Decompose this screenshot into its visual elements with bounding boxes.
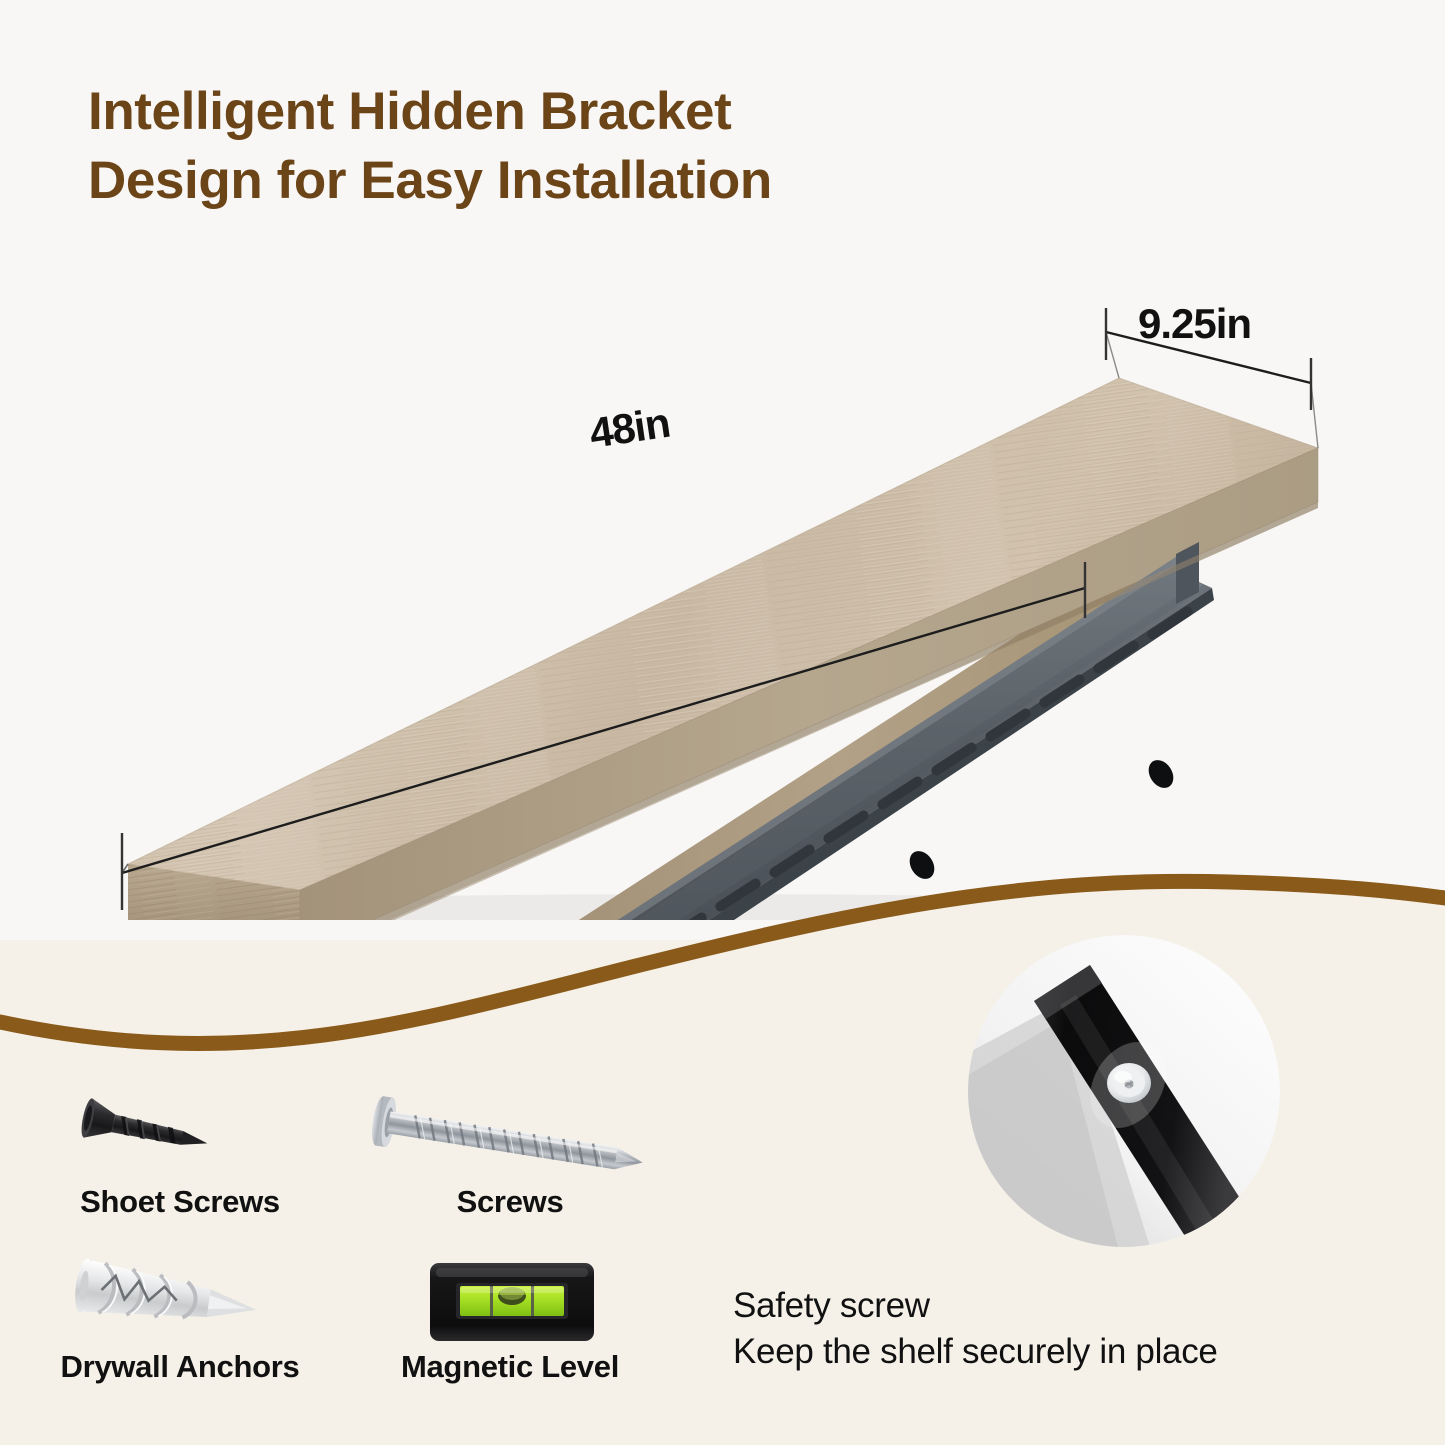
accessory-item-shoet-screws: Shoet Screws <box>10 1090 350 1250</box>
accessory-item-magnetic-level: Magnetic Level <box>340 1255 680 1415</box>
product-illustration: 48in 9.25in <box>0 270 1445 920</box>
dimension-label-depth: 9.25in <box>1138 300 1251 348</box>
accessory-list: Shoet Screws <box>0 1090 700 1430</box>
accessory-label: Drywall Anchors <box>10 1349 350 1385</box>
accessory-item-drywall-anchors: Drywall Anchors <box>10 1255 350 1415</box>
dimension-annotations <box>0 270 1445 920</box>
accessory-label: Magnetic Level <box>340 1349 680 1385</box>
safety-screw-photo <box>968 935 1280 1247</box>
headline-line-2: Design for Easy Installation <box>88 147 1238 216</box>
page-title: Intelligent Hidden Bracket Design for Ea… <box>88 78 1238 216</box>
silver-screw-icon <box>340 1090 680 1182</box>
headline-line-1: Intelligent Hidden Bracket <box>88 82 731 141</box>
accessory-label: Screws <box>340 1184 680 1220</box>
magnetic-level-icon <box>340 1255 680 1347</box>
safety-screw-caption: Safety screw Keep the shelf securely in … <box>733 1283 1413 1375</box>
accessory-item-screws: Screws <box>340 1090 680 1250</box>
safety-caption-line-2: Keep the shelf securely in place <box>733 1329 1413 1375</box>
drywall-anchor-icon <box>10 1255 350 1347</box>
black-screw-icon <box>10 1090 350 1182</box>
top-panel: Intelligent Hidden Bracket Design for Ea… <box>0 0 1445 1000</box>
safety-caption-line-1: Safety screw <box>733 1286 930 1325</box>
accessory-label: Shoet Screws <box>10 1184 350 1220</box>
